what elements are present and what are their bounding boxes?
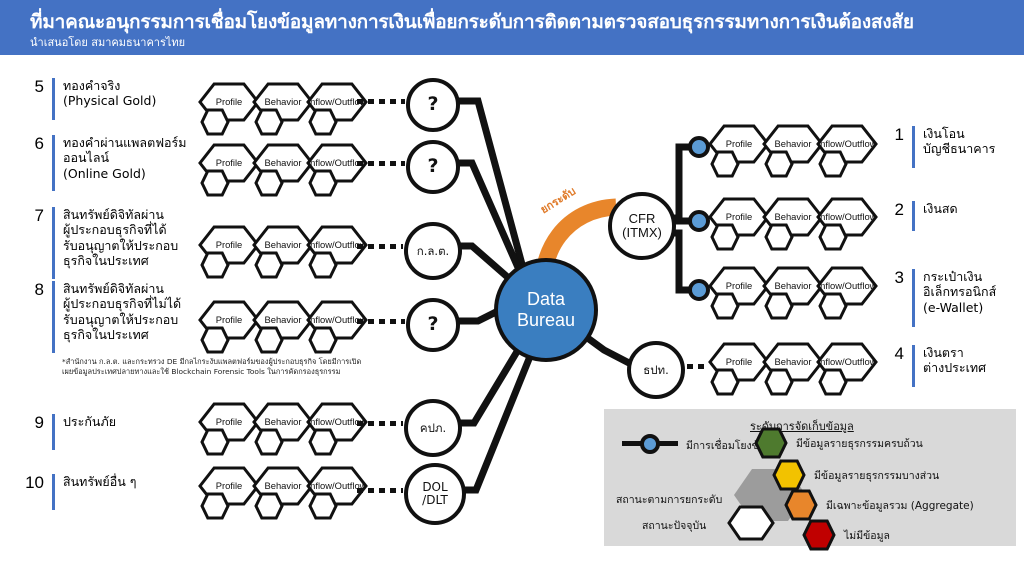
hex-status-current-shape [764, 368, 794, 396]
node-dol-dlt[interactable]: DOL /DLT [404, 463, 466, 525]
hex-status-current-shape [818, 368, 848, 396]
legend-level-2-label: มีข้อมูลรายธุรกรรมบางส่วน [814, 467, 939, 484]
node-data-bureau[interactable]: Data Bureau [494, 258, 598, 362]
hex-status-current-shape [308, 169, 338, 197]
data-bureau-line1: Data [527, 289, 565, 310]
node-bot[interactable]: ธปท. [627, 341, 685, 399]
row-6-hex-inflow-outflow[interactable]: Inflow/Outflow [306, 143, 368, 199]
node-oic[interactable]: คปภ. [404, 399, 462, 457]
legend-panel: ระดับการจัดเก็บข้อมูล มีการเชื่อมโยงข้อม… [604, 409, 1016, 546]
row-10-hex-inflow-outflow[interactable]: Inflow/Outflow [306, 466, 368, 522]
hex-status-current-shape [764, 292, 794, 320]
hex-status-current-shape [308, 492, 338, 520]
row-2-hex-behavior[interactable]: Behavior [762, 197, 824, 253]
row-4-hex-inflow-outflow[interactable]: Inflow/Outflow [816, 342, 878, 398]
node-cfr-itmx[interactable]: CFR (ITMX) [608, 192, 676, 260]
hex-status-current-shape [254, 169, 284, 197]
hex-status-current-shape [764, 150, 794, 178]
node-unknown-3[interactable]: ? [406, 298, 460, 352]
node-unknown-2[interactable]: ? [406, 140, 460, 194]
row-7-hex-profile[interactable]: Profile [198, 225, 260, 281]
hex-status-current-shape [710, 368, 740, 396]
row-6-hex-behavior[interactable]: Behavior [252, 143, 314, 199]
dotted-link-row-7 [357, 244, 403, 249]
row-3-hex-row: ProfileBehaviorInflow/Outflow [708, 266, 868, 324]
hex-status-current-shape [254, 326, 284, 354]
row-4-hex-behavior[interactable]: Behavior [762, 342, 824, 398]
row-2-hex-inflow-outflow[interactable]: Inflow/Outflow [816, 197, 878, 253]
row-3-hex-profile[interactable]: Profile [708, 266, 770, 322]
legend-status-upgraded-label: สถานะตามการยกระดับ [616, 491, 722, 508]
row-10-hex-profile[interactable]: Profile [198, 466, 260, 522]
hex-status-current-shape [764, 223, 794, 251]
link-dot-row-2[interactable] [688, 210, 710, 232]
legend-status-current-label: สถานะปัจจุบัน [642, 517, 706, 534]
row-10-hex-row: ProfileBehaviorInflow/Outflow [198, 466, 358, 524]
row-9-hex-behavior[interactable]: Behavior [252, 402, 314, 458]
row-8-hex-behavior[interactable]: Behavior [252, 300, 314, 356]
row-6-hex-profile[interactable]: Profile [198, 143, 260, 199]
hex-status-current-shape [818, 292, 848, 320]
hex-status-current-shape [308, 251, 338, 279]
row-10-hex-behavior[interactable]: Behavior [252, 466, 314, 522]
node-sec[interactable]: ก.ล.ต. [404, 222, 462, 280]
hex-status-current-shape [200, 251, 230, 279]
row-9-hex-inflow-outflow[interactable]: Inflow/Outflow [306, 402, 368, 458]
hex-status-current-shape [200, 169, 230, 197]
data-bureau-line2: Bureau [517, 310, 575, 331]
hex-status-current-shape [254, 428, 284, 456]
hex-status-current-shape [308, 326, 338, 354]
dotted-link-row-5 [357, 99, 405, 104]
hex-status-current-shape [254, 492, 284, 520]
row-7-hex-inflow-outflow[interactable]: Inflow/Outflow [306, 225, 368, 281]
row-9-hex-profile[interactable]: Profile [198, 402, 260, 458]
dotted-link-row-9 [357, 421, 403, 426]
row-8-hex-row: ProfileBehaviorInflow/Outflow [198, 300, 358, 358]
row-3-hex-behavior[interactable]: Behavior [762, 266, 824, 322]
cfr-line1: CFR [629, 212, 656, 226]
row-4-hex-profile[interactable]: Profile [708, 342, 770, 398]
row-1-hex-inflow-outflow[interactable]: Inflow/Outflow [816, 124, 878, 180]
row-5-hex-profile[interactable]: Profile [198, 82, 260, 138]
hex-status-current-shape [200, 108, 230, 136]
hex-status-current-shape [200, 326, 230, 354]
legend-level-3-label: มีเฉพาะข้อมูลรวม (Aggregate) [826, 497, 974, 514]
hex-status-current-shape [818, 150, 848, 178]
row-7-hex-row: ProfileBehaviorInflow/Outflow [198, 225, 358, 283]
row-2-hex-row: ProfileBehaviorInflow/Outflow [708, 197, 868, 255]
row-4-hex-row: ProfileBehaviorInflow/Outflow [708, 342, 868, 400]
legend-level-1-label: มีข้อมูลรายธุรกรรมครบถ้วน [796, 435, 923, 452]
row-9-hex-row: ProfileBehaviorInflow/Outflow [198, 402, 358, 460]
hex-status-current-shape [710, 223, 740, 251]
row-1-hex-profile[interactable]: Profile [708, 124, 770, 180]
hex-status-current-shape [254, 251, 284, 279]
cfr-line2: (ITMX) [622, 226, 662, 240]
row-8-hex-inflow-outflow[interactable]: Inflow/Outflow [306, 300, 368, 356]
dotted-link-row-6 [357, 161, 405, 166]
row-7-hex-behavior[interactable]: Behavior [252, 225, 314, 281]
hex-status-current-shape [818, 223, 848, 251]
row-5-hex-behavior[interactable]: Behavior [252, 82, 314, 138]
node-unknown-1[interactable]: ? [406, 78, 460, 132]
row-3-hex-inflow-outflow[interactable]: Inflow/Outflow [816, 266, 878, 322]
legend-level-4-label: ไม่มีข้อมูล [844, 527, 890, 544]
hex-status-current-shape [308, 108, 338, 136]
dotted-link-row-8 [357, 319, 405, 324]
hex-status-current-shape [254, 108, 284, 136]
legend-level-3-hex-icon [784, 489, 818, 521]
row-6-hex-row: ProfileBehaviorInflow/Outflow [198, 143, 358, 201]
row-5-hex-inflow-outflow[interactable]: Inflow/Outflow [306, 82, 368, 138]
hex-status-current-shape [308, 428, 338, 456]
row-5-hex-row: ProfileBehaviorInflow/Outflow [198, 82, 358, 140]
hex-status-current-shape [200, 428, 230, 456]
legend-level-2-hex-icon [772, 459, 806, 491]
dotted-link-row-10 [357, 488, 403, 493]
legend-level-1-hex-icon [754, 427, 788, 459]
row-1-hex-behavior[interactable]: Behavior [762, 124, 824, 180]
link-dot-row-1[interactable] [688, 136, 710, 158]
hex-status-current-shape [710, 150, 740, 178]
slide-canvas: ที่มาคณะอนุกรรมการเชื่อมโยงข้อมูลทางการเ… [0, 0, 1024, 576]
legend-link-dot-icon [640, 434, 660, 454]
hex-status-current-shape [710, 292, 740, 320]
legend-level-4-hex-icon [802, 519, 836, 551]
row-2-hex-profile[interactable]: Profile [708, 197, 770, 253]
node-dol-line2: /DLT [422, 494, 448, 507]
row-8-hex-profile[interactable]: Profile [198, 300, 260, 356]
hex-status-current-shape [200, 492, 230, 520]
link-dot-row-3[interactable] [688, 279, 710, 301]
row-1-hex-row: ProfileBehaviorInflow/Outflow [708, 124, 868, 182]
